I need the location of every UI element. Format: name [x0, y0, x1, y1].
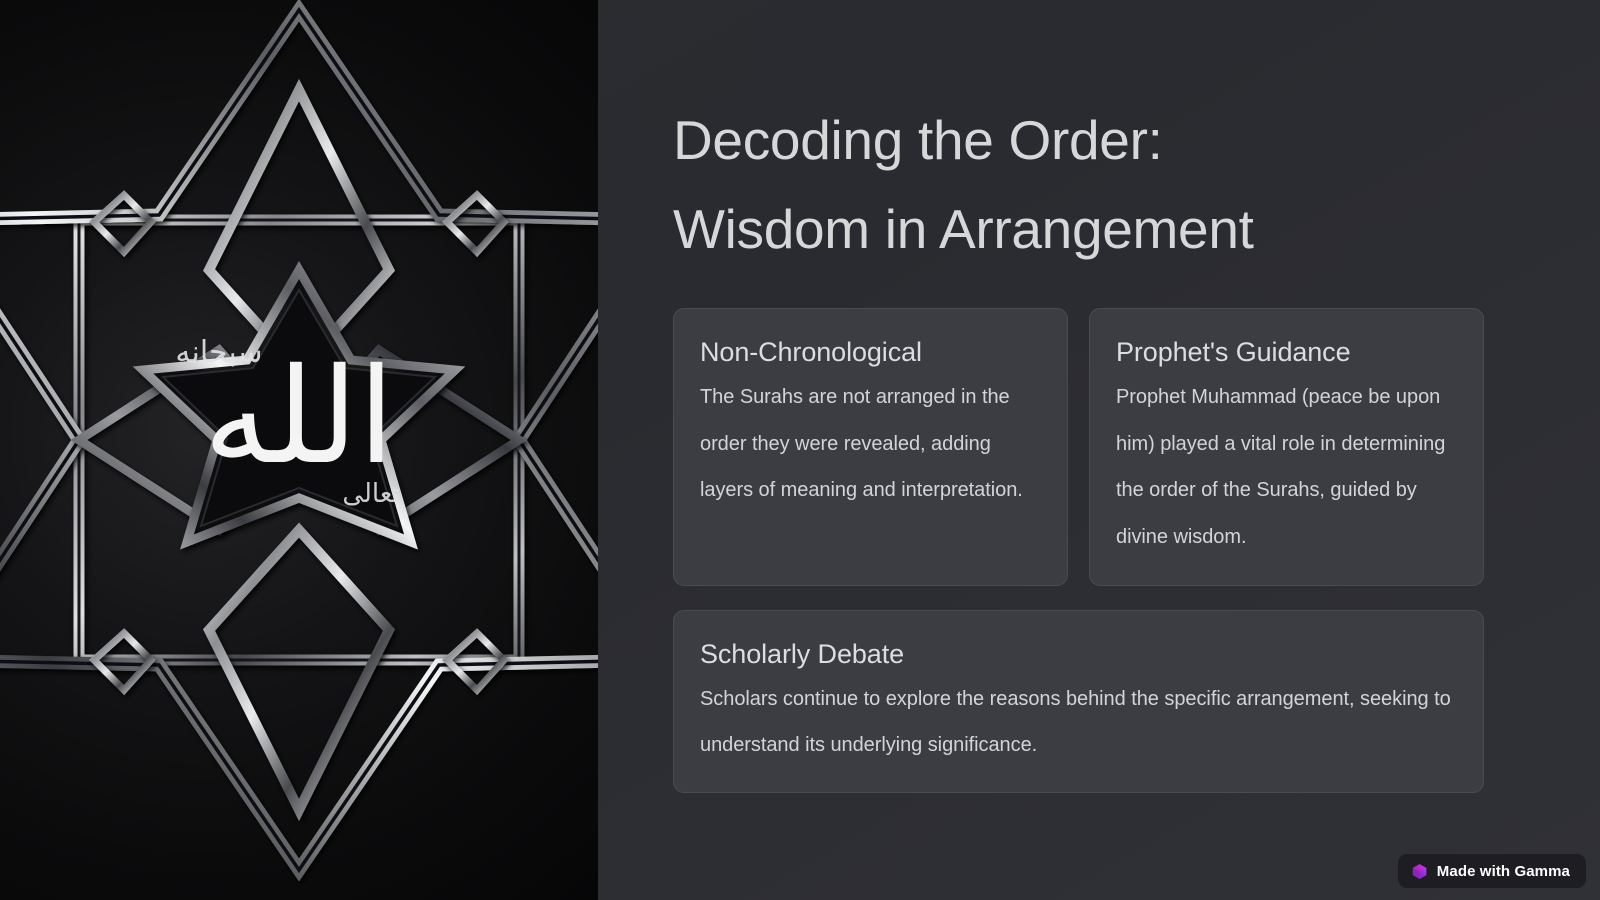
page-title: Decoding the Order: Wisdom in Arrangemen…: [673, 96, 1484, 274]
eight-pointed-star-ornament-icon: الله سبحانه تعالى: [0, 0, 598, 900]
svg-text:تعالى: تعالى: [342, 479, 399, 509]
slide-content: Decoding the Order: Wisdom in Arrangemen…: [598, 0, 1600, 900]
badge-label: Made with Gamma: [1437, 863, 1570, 880]
svg-text:سبحانه: سبحانه: [175, 335, 262, 370]
page-title-line-2: Wisdom in Arrangement: [673, 185, 1484, 274]
card-body: Prophet Muhammad (peace be upon him) pla…: [1116, 374, 1457, 560]
gamma-logo-icon: [1411, 863, 1428, 880]
card-heading: Non-Chronological: [700, 335, 1041, 370]
cards-row-top: Non-Chronological The Surahs are not arr…: [673, 308, 1484, 585]
made-with-gamma-badge[interactable]: Made with Gamma: [1398, 854, 1586, 888]
card-prophets-guidance[interactable]: Prophet's Guidance Prophet Muhammad (pea…: [1089, 308, 1484, 585]
card-scholarly-debate[interactable]: Scholarly Debate Scholars continue to ex…: [673, 610, 1484, 793]
slide: الله سبحانه تعالى Decoding the Order: Wi…: [0, 0, 1600, 900]
card-body: Scholars continue to explore the reasons…: [700, 676, 1457, 768]
card-non-chronological[interactable]: Non-Chronological The Surahs are not arr…: [673, 308, 1068, 585]
card-body: The Surahs are not arranged in the order…: [700, 374, 1041, 514]
card-heading: Scholarly Debate: [700, 637, 1457, 672]
page-title-line-1: Decoding the Order:: [673, 96, 1484, 185]
artwork-panel: الله سبحانه تعالى: [0, 0, 598, 900]
card-heading: Prophet's Guidance: [1116, 335, 1457, 370]
